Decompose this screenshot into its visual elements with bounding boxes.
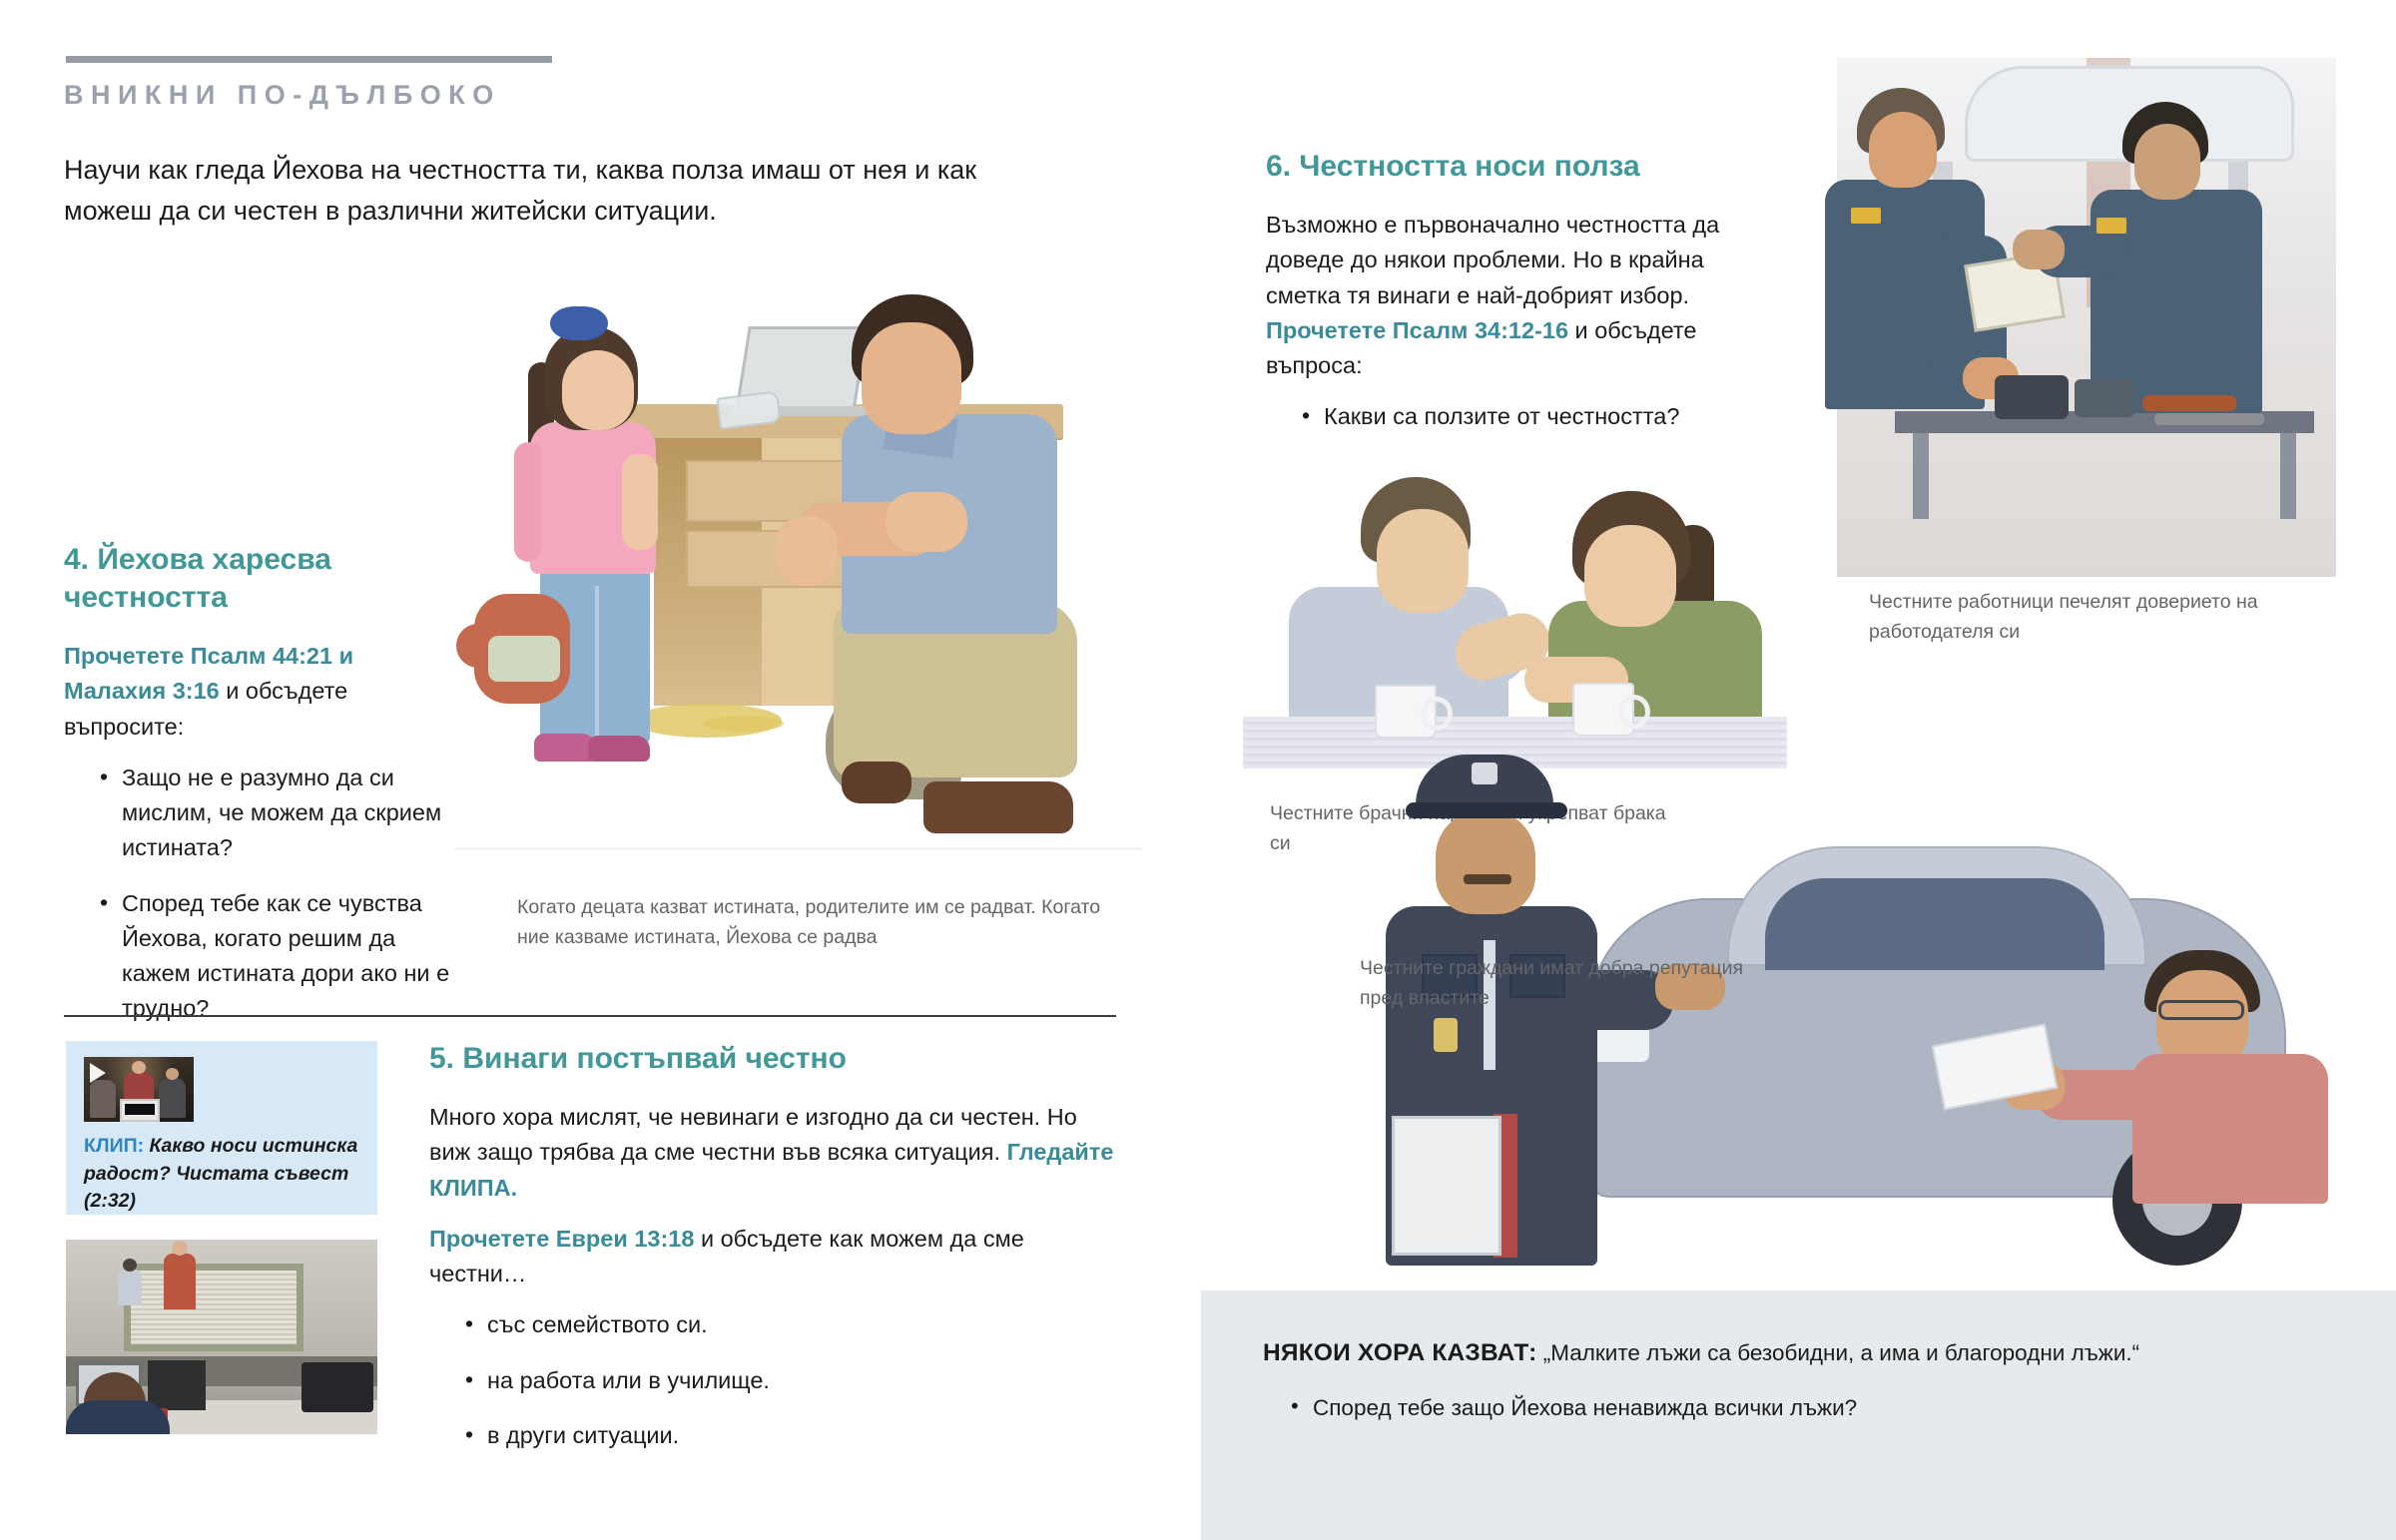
bench-tool-box <box>2075 379 2134 417</box>
clip-panel[interactable]: КЛИП: Какво носи истинска радост? Чистат… <box>66 1041 377 1215</box>
thumb-person-left <box>90 1080 116 1118</box>
girl-shoe-left <box>534 734 596 762</box>
section-4-heading: 4. Йехова харесва честността <box>64 541 455 617</box>
bench-tool-wrench <box>2142 395 2236 411</box>
section-6-paragraph-start: Възможно е първоначално честността да до… <box>1266 212 1719 308</box>
clip-scene-photo <box>66 1240 377 1434</box>
mechanic-right-hand <box>2013 230 2065 269</box>
section-6-scripture-link[interactable]: Прочетете Псалм 34:12-16 <box>1266 317 1568 343</box>
girl-shoe-right <box>588 736 650 762</box>
officer-badge <box>1434 1018 1458 1052</box>
list-item: на работа или в училище. <box>465 1363 1118 1398</box>
photo-monitor-right <box>148 1360 206 1410</box>
officer-face <box>1436 810 1535 914</box>
girl-hair-bow <box>550 306 608 340</box>
section-4-question-list: Защо не е разумно да си мислим, че можем… <box>64 761 455 1027</box>
section-6: 6. Честността носи полза Възможно е първ… <box>1266 148 1785 455</box>
list-item: Какви са ползите от честността? <box>1302 399 1785 434</box>
clip-caption: КЛИП: Какво носи истинска радост? Чистат… <box>84 1133 359 1216</box>
mechanic-right-badge <box>2096 218 2126 234</box>
some-people-say-line: НЯКОИ ХОРА КАЗВАТ: „Малките лъжи са безо… <box>1263 1336 2396 1370</box>
father-hand <box>776 516 838 586</box>
officer-binder <box>1392 1116 1501 1256</box>
section-5-bullet-list: със семейството си. на работа или в учил… <box>429 1307 1118 1453</box>
mechanic-right-face <box>2134 124 2200 200</box>
floor-shadow <box>454 847 1143 850</box>
family-illustration-caption: Когато децата казват истината, родителит… <box>517 893 1116 952</box>
girl-arm-left <box>514 442 542 562</box>
intro-paragraph: Научи как гледа Йехова на честността ти,… <box>64 150 1042 232</box>
father-hand-upper <box>886 492 967 552</box>
wife-face <box>1584 525 1676 627</box>
header-accent-rule <box>66 56 552 63</box>
officer-moustache <box>1464 874 1511 884</box>
mechanics-caption: Честните работници печелят доверието на … <box>1869 587 2338 647</box>
some-people-say-box: НЯКОИ ХОРА КАЗВАТ: „Малките лъжи са безо… <box>1201 1290 2396 1540</box>
list-item: със семейството си. <box>465 1307 1118 1342</box>
page-title: ВНИКНИ ПО-ДЪЛБОКО <box>64 80 501 111</box>
clip-label: КЛИП: <box>84 1135 144 1157</box>
car-window <box>1765 878 2104 970</box>
photo-viewer-shoulders <box>66 1400 170 1434</box>
mechanic-left-badge <box>1851 208 1881 224</box>
father-shoe-front <box>923 781 1073 833</box>
officer-cap-brim <box>1406 802 1567 818</box>
stuffed-toy-stripe <box>488 636 560 682</box>
bench-tool-engine-part <box>1995 375 2069 419</box>
section-6-paragraph: Възможно е първоначално честността да до… <box>1266 208 1785 383</box>
section-5-paragraph: Много хора мислят, че невинаги е изгодно… <box>429 1100 1118 1206</box>
section-5: 5. Винаги постъпвай честно Много хора ми… <box>429 1040 1118 1473</box>
driver-shirt <box>2132 1054 2328 1204</box>
photo-person-seated <box>118 1270 142 1305</box>
thumb-person-right <box>159 1078 186 1118</box>
play-icon[interactable] <box>90 1063 106 1083</box>
some-people-say-label: НЯКОИ ХОРА КАЗВАТ: <box>1263 1339 1537 1366</box>
list-item: в други ситуации. <box>465 1418 1118 1453</box>
some-people-say-list: Според тебе защо Йехова ненавижда всички… <box>1263 1392 2396 1424</box>
girl-face <box>562 350 634 430</box>
husband-face <box>1377 509 1469 613</box>
thumb-laptop <box>120 1099 160 1122</box>
spilled-juice-splash <box>704 716 784 732</box>
section-6-heading: 6. Честността носи полза <box>1266 148 1785 186</box>
list-item: Според тебе защо Йехова ненавижда всички… <box>1291 1392 2396 1424</box>
officer-cap-badge <box>1472 763 1497 784</box>
left-column-divider <box>64 1015 1116 1017</box>
window-blinds <box>131 1271 297 1344</box>
father-shoe-back <box>842 762 911 803</box>
family-illustration <box>454 264 1143 898</box>
driver-glasses <box>2158 1000 2244 1020</box>
mechanics-illustration <box>1837 58 2336 577</box>
section-5-paragraph-text: Много хора мислят, че невинаги е изгодно… <box>429 1104 1077 1165</box>
list-item: Защо не е разумно да си мислим, че можем… <box>100 761 455 866</box>
section-4: 4. Йехова харесва честността Прочетете П… <box>64 541 455 1047</box>
photo-couch <box>301 1362 373 1412</box>
section-6-question-list: Какви са ползите от честността? <box>1266 399 1785 434</box>
work-bench-leg-right <box>2280 433 2296 519</box>
wall-window-frame <box>124 1264 303 1351</box>
work-bench-leg-left <box>1913 433 1929 519</box>
father-face <box>862 322 961 434</box>
section-4-lead: Прочетете Псалм 44:21 и Малахия 3:16 и о… <box>64 639 455 745</box>
list-item: Според тебе как се чувства Йехова, когат… <box>100 886 455 1027</box>
section-5-read-line: Прочетете Евреи 13:18 и обсъдете как мож… <box>429 1222 1118 1292</box>
mechanic-left-face <box>1869 112 1937 188</box>
clip-thumbnail[interactable] <box>84 1057 194 1122</box>
clip-duration: (2:32) <box>84 1190 136 1212</box>
police-caption: Честните граждани имат добра репутация п… <box>1360 953 1759 1013</box>
some-people-say-quote: „Малките лъжи са безобидни, а има и благ… <box>1543 1340 2139 1365</box>
section-5-heading: 5. Винаги постъпвай честно <box>429 1040 1118 1078</box>
section-5-scripture-link[interactable]: Прочетете Евреи 13:18 <box>429 1226 694 1252</box>
bench-tool-bar <box>2154 413 2264 425</box>
girl-arm-right <box>622 454 658 550</box>
photo-person-standing <box>164 1254 196 1309</box>
